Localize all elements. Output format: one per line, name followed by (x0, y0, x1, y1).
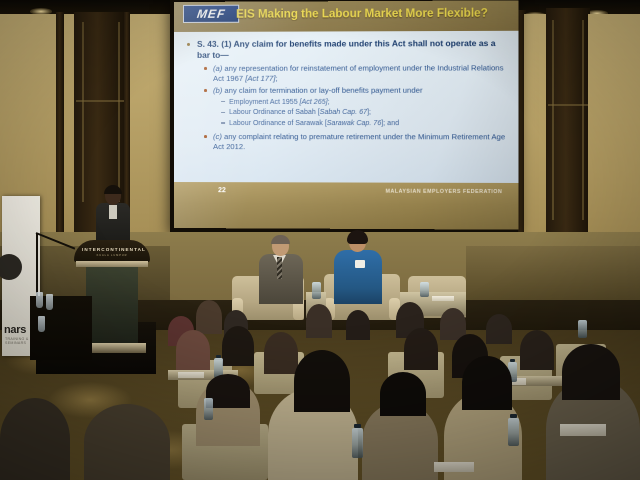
water-bottle (352, 428, 363, 458)
microphone-stand (36, 233, 38, 299)
subitem-text: Labour Ordinance of Sabah [ (229, 109, 320, 116)
handout-paper (434, 462, 474, 472)
audience-head (294, 350, 350, 412)
lectern-brand-sub: KUALA LUMPUR (82, 254, 142, 257)
speaker-hair (104, 185, 122, 194)
column-stripe (76, 100, 124, 102)
bullet-b-label: (b) (213, 86, 222, 95)
water-bottle (420, 282, 429, 297)
audience-member (222, 326, 254, 366)
bottle-cap (354, 424, 361, 428)
audience-head (562, 344, 620, 400)
column-stripe (548, 104, 588, 106)
slide-bullet-main: S. 43. (1) Any claim for benefits made u… (184, 38, 508, 61)
mef-logo: MEF (183, 5, 239, 23)
lectern-top: INTERCONTINENTAL KUALA LUMPUR (74, 240, 150, 262)
audience-member (404, 328, 438, 370)
water-bottle (578, 320, 587, 338)
column-stripe (552, 20, 554, 220)
audience-member (520, 330, 554, 370)
panelist-male (258, 236, 304, 304)
slide-page-number: 22 (218, 187, 226, 194)
stage-wall-right (466, 246, 640, 304)
conference-photo-scene: MEF EIS Making the Labour Market More Fl… (0, 0, 640, 480)
slide-subitem: Labour Ordinance of Sarawak [Sarawak Cap… (184, 119, 508, 128)
bottle-cap (510, 359, 515, 362)
wall-panel-left-3 (128, 14, 170, 238)
water-glass (38, 316, 45, 332)
audience-member-foreground (0, 398, 70, 480)
bottle-cap (510, 414, 517, 418)
papers-on-table (432, 296, 454, 301)
column-stripe (118, 22, 120, 202)
panelist-male-tie (277, 257, 282, 279)
slide-bullet-b: (b) any claim for termination or lay-off… (184, 85, 508, 95)
banner-logo-mark (0, 254, 22, 280)
audience-member (196, 300, 222, 334)
slide-bullet-a: (a) any representation for reinstatement… (184, 63, 508, 83)
column-stripe (582, 20, 584, 220)
slide-organization-name: MALAYSIAN EMPLOYERS FEDERATION (386, 189, 503, 195)
banner-text: nars (4, 324, 26, 336)
slide-title: EIS Making the Labour Market More Flexib… (236, 7, 512, 20)
audience-head (462, 356, 512, 410)
subitem-cite: Sarawak Cap. 76 (327, 120, 381, 127)
panelist-female (334, 232, 382, 304)
handout-paper (560, 424, 606, 436)
subitem-cite: [Act 265] (300, 99, 328, 106)
lectern-body (86, 267, 138, 343)
water-bottle (508, 418, 519, 446)
panelist-male-hair (271, 235, 290, 244)
water-bottle (204, 398, 213, 420)
audience-member (306, 304, 332, 338)
presentation-slide: MEF EIS Making the Labour Market More Fl… (174, 0, 519, 229)
audience-member (176, 330, 210, 370)
slide-subitem: Employment Act 1955 [Act 265]; (184, 98, 508, 107)
slide-bullet-c: (c) any complaint relating to premature … (184, 132, 508, 152)
audience-member (264, 332, 298, 374)
subitem-cite: Sabah Cap. 67 (320, 109, 367, 116)
bullet-a-cite: [Act 177] (245, 74, 275, 83)
bullet-a-label: (a) (213, 64, 222, 73)
column-stripe (82, 22, 84, 202)
bottle-cap (216, 355, 221, 358)
water-bottle (312, 282, 321, 299)
subitem-text: Labour Ordinance of Sarawak [ (229, 120, 327, 127)
subitem-end: ]; and (381, 120, 399, 127)
subitem-end: ; (328, 99, 330, 106)
mef-logo-text: MEF (196, 7, 226, 21)
bullet-b-text: any claim for termination or lay-off ben… (222, 86, 422, 95)
wall-panel-right-2 (588, 14, 640, 236)
slide-body: S. 43. (1) Any claim for benefits made u… (174, 31, 519, 183)
speaker-shirt (109, 205, 117, 219)
audience-member-foreground (84, 404, 170, 480)
audience-head (380, 372, 426, 416)
projection-screen: MEF EIS Making the Labour Market More Fl… (174, 0, 519, 229)
bullet-c-label: (c) (213, 132, 222, 141)
subitem-text: Employment Act 1955 (229, 99, 300, 106)
panelist-name-badge (355, 260, 365, 268)
handout-paper (178, 372, 204, 378)
lectern-brand: INTERCONTINENTAL (82, 247, 142, 252)
subitem-end: ]; (367, 109, 371, 116)
audience-member (346, 310, 370, 340)
audience-member (486, 314, 512, 344)
panelist-female-body (334, 250, 382, 304)
bullet-a-end: ; (275, 74, 277, 83)
water-glass (36, 292, 43, 308)
panelist-female-hair (347, 230, 368, 244)
bullet-c-text: any complaint relating to premature reti… (213, 132, 505, 151)
projection-screen-frame: MEF EIS Making the Labour Market More Fl… (170, 0, 518, 232)
water-glass (46, 294, 53, 310)
wall-column (56, 12, 64, 240)
slide-subitem: Labour Ordinance of Sabah [Sabah Cap. 67… (184, 108, 508, 117)
speaker-at-podium (96, 186, 130, 246)
slide-header-band: MEF EIS Making the Labour Market More Fl… (174, 0, 519, 32)
slide-footer-band: 22 MALAYSIAN EMPLOYERS FEDERATION (174, 182, 519, 230)
